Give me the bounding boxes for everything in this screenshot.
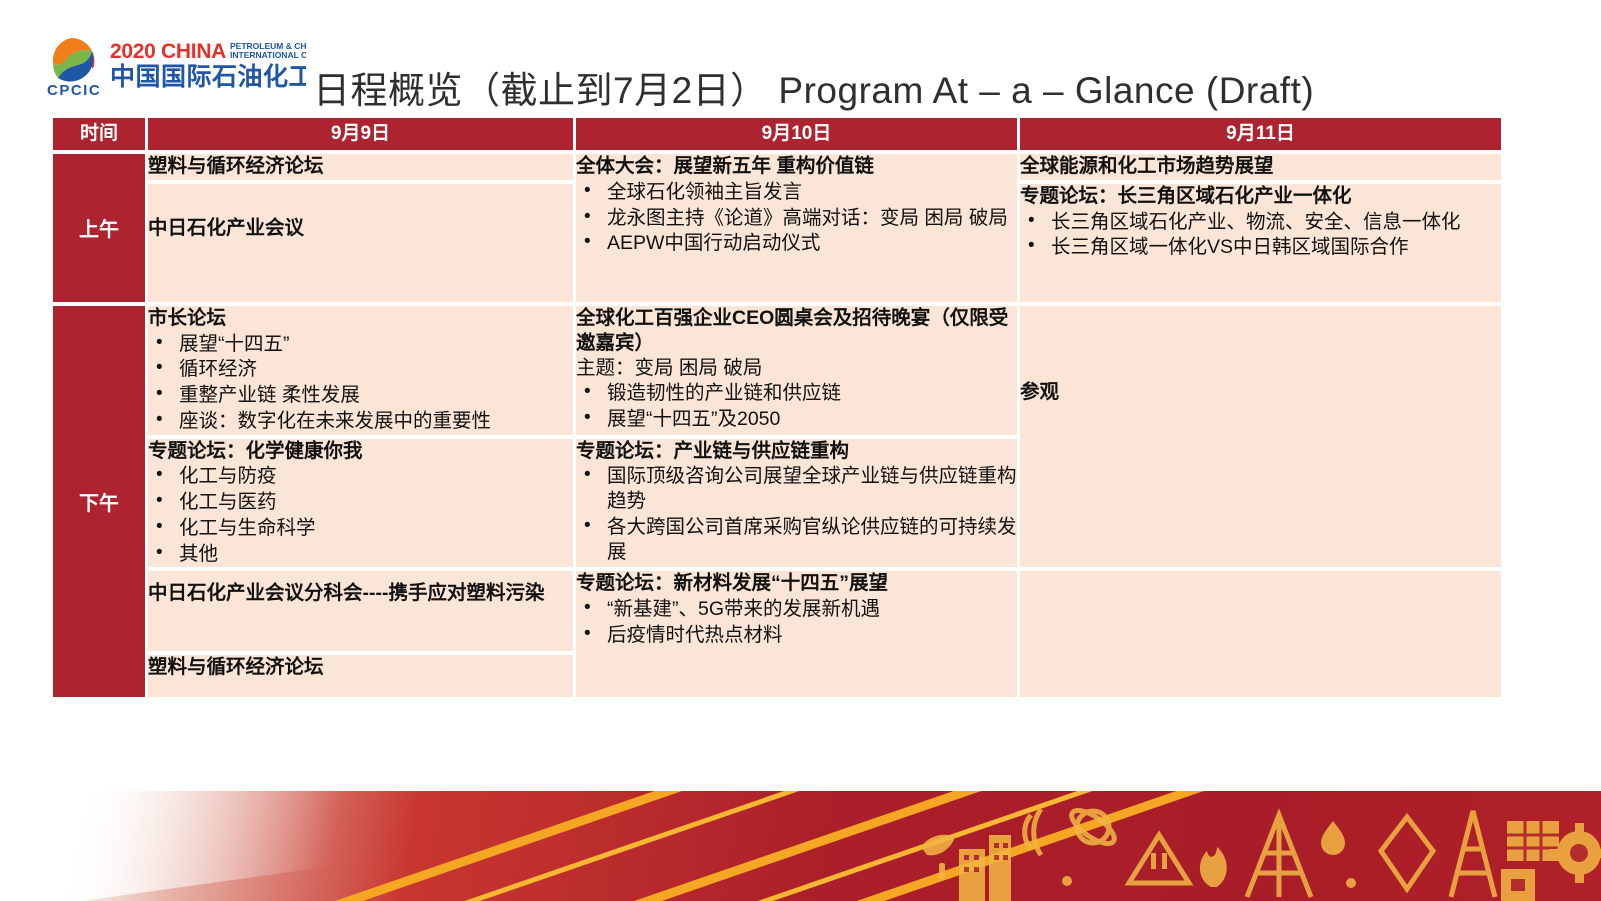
table-header-row: 时间 9月9日 9月10日 9月11日 bbox=[53, 118, 1501, 150]
list-item: 循环经济 bbox=[148, 357, 573, 382]
list-item: 其他 bbox=[148, 542, 573, 567]
list-item: 化工与医药 bbox=[148, 490, 573, 515]
logo-year-text: 2020 CHINA bbox=[110, 40, 226, 63]
signal-icon bbox=[1025, 809, 1041, 855]
page-title: 日程概览（截止到7月2日） Program At – a – Glance (D… bbox=[313, 60, 1314, 114]
cell-sep10-afternoon-2: 专题论坛：产业链与供应链重构 国际顶级咨询公司展望全球产业链与供应链重构趋势 各… bbox=[576, 435, 1020, 568]
table-row-afternoon-1: 下午 市长论坛 展望“十四五” 循环经济 重整产业链 柔性发展 座谈：数字化在未… bbox=[53, 302, 1501, 435]
cell-sep10-afternoon-3: 专题论坛：新材料发展“十四五”展望 “新基建”、5G带来的发展新机遇 后疫情时代… bbox=[576, 567, 1020, 697]
industry-icon-pattern bbox=[881, 791, 1601, 901]
list-item: 龙永图主持《论道》高端对话：变局 困局 破局 bbox=[576, 206, 1017, 231]
session-title: 市长论坛 bbox=[148, 306, 573, 331]
list-item: 展望“十四五” bbox=[148, 332, 573, 357]
logo-cn-text: 中国国际石油化工大会 bbox=[110, 63, 306, 91]
list-item: 座谈：数字化在未来发展中的重要性 bbox=[148, 409, 573, 434]
session-title: 参观 bbox=[1020, 306, 1501, 405]
session-bullets: “新基建”、5G带来的发展新机遇 后疫情时代热点材料 bbox=[576, 597, 1017, 648]
atom-icon bbox=[1067, 804, 1119, 849]
droplet-icon bbox=[1321, 821, 1345, 855]
session-subtitle: 主题：变局 困局 破局 bbox=[576, 356, 1017, 381]
cell-sep10-morning: 全体大会：展望新五年 重构价值链 全球石化领袖主旨发言 龙永图主持《论道》高端对… bbox=[576, 150, 1020, 302]
session-title: 全球能源和化工市场趋势展望 bbox=[1020, 154, 1501, 179]
chip-icon bbox=[1501, 869, 1535, 901]
session-bullets: 国际顶级咨询公司展望全球产业链与供应链重构趋势 各大跨国公司首席采购官纵论供应链… bbox=[576, 464, 1017, 564]
program-schedule-table: 时间 9月9日 9月10日 9月11日 上午 塑料与循环经济论坛 全体大会：展望… bbox=[53, 118, 1501, 697]
time-label-morning: 上午 bbox=[53, 150, 148, 302]
list-item: 长三角区域一体化VS中日韩区域国际合作 bbox=[1020, 235, 1501, 260]
logo-sub2-text: INTERNATIONAL CONFERENCE bbox=[230, 50, 306, 60]
session-title: 中日石化产业会议分科会----携手应对塑料污染 bbox=[148, 571, 573, 606]
session-title: 专题论坛：新材料发展“十四五”展望 bbox=[576, 571, 1017, 596]
building-icon bbox=[959, 849, 985, 901]
cell-sep9-afternoon-3: 中日石化产业会议分科会----携手应对塑料污染 bbox=[148, 567, 576, 651]
cell-sep11-afternoon-2 bbox=[1020, 567, 1501, 697]
leaf-icon bbox=[921, 835, 955, 856]
list-item: 国际顶级咨询公司展望全球产业链与供应链重构趋势 bbox=[576, 464, 1017, 514]
cell-sep11-afternoon-1: 参观 bbox=[1020, 302, 1501, 568]
session-title: 全体大会：展望新五年 重构价值链 bbox=[576, 154, 1017, 179]
cell-sep10-afternoon-1: 全球化工百强企业CEO圆桌会及招待晚宴（仅限受邀嘉宾） 主题：变局 困局 破局 … bbox=[576, 302, 1020, 435]
cell-sep9-afternoon-2: 专题论坛：化学健康你我 化工与防疫 化工与医药 化工与生命科学 其他 bbox=[148, 435, 576, 568]
cell-sep9-morning-1: 塑料与循环经济论坛 bbox=[148, 150, 576, 180]
logo-mark-text: CPCIC bbox=[47, 82, 101, 98]
list-item: 锻造韧性的产业链和供应链 bbox=[576, 381, 1017, 406]
flame-icon bbox=[1200, 847, 1227, 887]
derrick-icon bbox=[1247, 815, 1311, 897]
cell-sep11-morning-2: 专题论坛：长三角区域石化产业一体化 长三角区域石化产业、物流、安全、信息一体化 … bbox=[1020, 180, 1501, 302]
list-item: “新基建”、5G带来的发展新机遇 bbox=[576, 597, 1017, 622]
column-header-sep10: 9月10日 bbox=[576, 118, 1020, 150]
list-item: 各大跨国公司首席采购官纵论供应链的可持续发展 bbox=[576, 515, 1017, 565]
cell-sep9-afternoon-4: 塑料与循环经济论坛 bbox=[148, 651, 576, 697]
list-item: 全球石化领袖主旨发言 bbox=[576, 180, 1017, 205]
session-title: 专题论坛：化学健康你我 bbox=[148, 439, 573, 464]
session-title: 塑料与循环经济论坛 bbox=[148, 154, 573, 179]
session-title: 专题论坛：产业链与供应链重构 bbox=[576, 439, 1017, 464]
list-item: AEPW中国行动启动仪式 bbox=[576, 231, 1017, 256]
list-item: 化工与防疫 bbox=[148, 464, 573, 489]
list-item: 长三角区域石化产业、物流、安全、信息一体化 bbox=[1020, 210, 1501, 235]
dot-icon bbox=[1346, 878, 1356, 888]
session-bullets: 锻造韧性的产业链和供应链 展望“十四五”及2050 bbox=[576, 381, 1017, 432]
logo-mark-icon bbox=[48, 38, 94, 84]
time-label-afternoon: 下午 bbox=[53, 302, 148, 698]
column-header-sep11: 9月11日 bbox=[1020, 118, 1501, 150]
warning-icon bbox=[1129, 835, 1189, 883]
cell-sep11-morning-1: 全球能源和化工市场趋势展望 bbox=[1020, 150, 1501, 180]
column-header-time: 时间 bbox=[53, 118, 148, 150]
session-title: 塑料与循环经济论坛 bbox=[148, 655, 573, 680]
cell-sep9-morning-2: 中日石化产业会议 bbox=[148, 180, 576, 302]
session-bullets: 长三角区域石化产业、物流、安全、信息一体化 长三角区域一体化VS中日韩区域国际合… bbox=[1020, 210, 1501, 261]
pylon-icon bbox=[1451, 811, 1495, 897]
session-title: 全球化工百强企业CEO圆桌会及招待晚宴（仅限受邀嘉宾） bbox=[576, 306, 1017, 356]
list-item: 展望“十四五”及2050 bbox=[576, 407, 1017, 432]
table-row-morning: 上午 塑料与循环经济论坛 全体大会：展望新五年 重构价值链 全球石化领袖主旨发言… bbox=[53, 150, 1501, 180]
dot-icon bbox=[1062, 876, 1072, 886]
list-item: 化工与生命科学 bbox=[148, 516, 573, 541]
list-item: 后疫情时代热点材料 bbox=[576, 623, 1017, 648]
cell-sep9-afternoon-1: 市长论坛 展望“十四五” 循环经济 重整产业链 柔性发展 座谈：数字化在未来发展… bbox=[148, 302, 576, 435]
plug-icon bbox=[939, 863, 945, 879]
session-title: 专题论坛：长三角区域石化产业一体化 bbox=[1020, 184, 1501, 209]
diamond-icon bbox=[1381, 817, 1433, 889]
session-title: 中日石化产业会议 bbox=[148, 184, 573, 241]
session-bullets: 全球石化领袖主旨发言 龙永图主持《论道》高端对话：变局 困局 破局 AEPW中国… bbox=[576, 180, 1017, 256]
session-bullets: 化工与防疫 化工与医药 化工与生命科学 其他 bbox=[148, 464, 573, 566]
column-header-sep9: 9月9日 bbox=[148, 118, 576, 150]
decorative-footer-ribbon bbox=[0, 791, 1601, 901]
session-bullets: 展望“十四五” 循环经济 重整产业链 柔性发展 座谈：数字化在未来发展中的重要性 bbox=[148, 332, 573, 434]
table-row-afternoon-3: 中日石化产业会议分科会----携手应对塑料污染 专题论坛：新材料发展“十四五”展… bbox=[53, 567, 1501, 651]
list-item: 重整产业链 柔性发展 bbox=[148, 383, 573, 408]
cpcic-logo: CPCIC 2020 CHINA PETROLEUM & CHEMICAL IN… bbox=[44, 36, 306, 98]
